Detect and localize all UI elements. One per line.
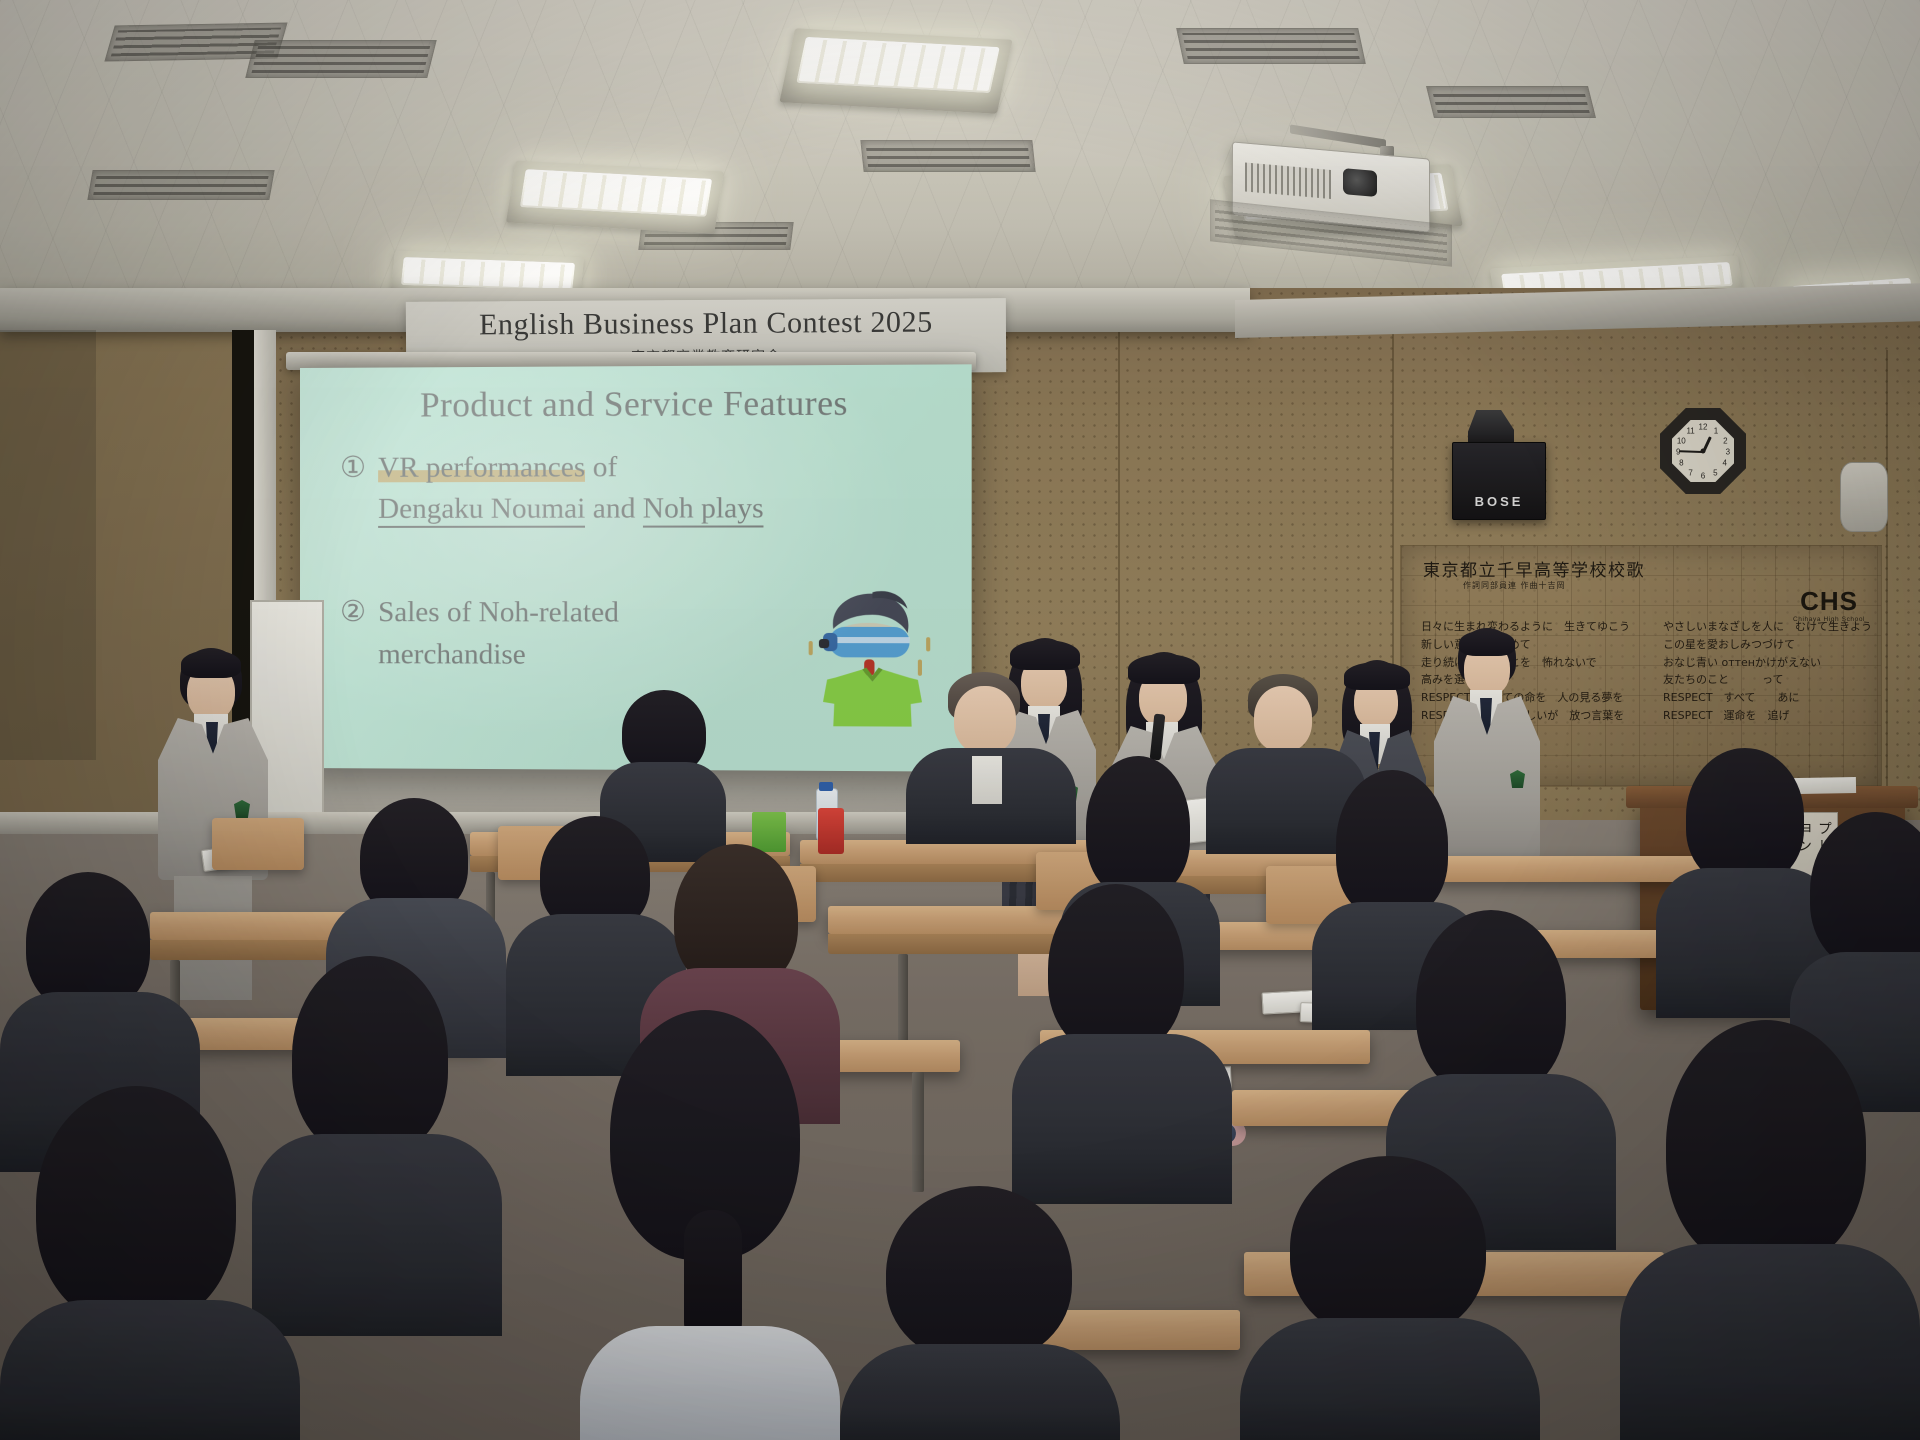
clock-numeral: 3: [1726, 448, 1730, 457]
clock-numeral: 9: [1676, 448, 1680, 457]
shirt: [580, 1326, 840, 1440]
speaker-brand-label: BOSE: [1475, 494, 1524, 509]
desk-leg: [898, 954, 908, 1046]
slide-title: Product and Service Features: [300, 383, 972, 426]
audience-member: [1012, 884, 1232, 1204]
hair: [1336, 770, 1448, 918]
school-song-title: 東京都立千早高等学校校歌: [1423, 556, 1645, 581]
school-song-column-2: やさしいまなざしを人に むけて生きよう この星を愛おしみつづけて おなじ青い о…: [1663, 618, 1872, 725]
jacket: [0, 1300, 300, 1440]
clock-numeral: 7: [1688, 468, 1692, 477]
dress-shirt: [972, 756, 1002, 804]
ceiling-vent-tile: [87, 170, 274, 200]
hair: [36, 1086, 236, 1326]
jacket: [1012, 1034, 1232, 1204]
hair: [1686, 748, 1804, 884]
audience-member: [1620, 1020, 1920, 1440]
bullet-1-line2-mid: and: [585, 492, 642, 524]
wall-clock: 12 1 2 3 4 5 6 7 8 9 10 11: [1660, 408, 1746, 494]
clock-face: 12 1 2 3 4 5 6 7 8 9 10 11: [1672, 420, 1734, 482]
ceiling-vent-tile: [860, 140, 1035, 172]
clock-numeral: 12: [1699, 422, 1708, 431]
projector-lens: [1343, 168, 1377, 197]
hair-fringe: [1459, 630, 1515, 656]
jacket: [1620, 1244, 1920, 1440]
ceiling-vent-tile: [245, 40, 436, 78]
clock-numeral: 6: [1701, 471, 1705, 480]
clock-center: [1701, 449, 1706, 454]
slide-bullet-1: ① VR performances of Dengaku Noumai and …: [340, 446, 868, 530]
school-logo-name: Chihaya High School: [1793, 616, 1865, 623]
audience-member: [1240, 1156, 1540, 1440]
jacket: [840, 1344, 1120, 1440]
event-banner-title: English Business Plan Contest 2025: [479, 307, 933, 340]
bose-speaker: BOSE: [1452, 442, 1546, 520]
desk-leg: [912, 1072, 924, 1192]
slide-body: ① VR performances of Dengaku Noumai and …: [340, 446, 868, 676]
clock-numeral: 1: [1714, 426, 1718, 435]
bullet-number-1: ①: [340, 448, 366, 531]
jacket: [1240, 1318, 1540, 1440]
bullet-text-2: Sales of Noh-related merchandise: [378, 592, 868, 676]
presentation-room-photo: English Business Plan Contest 2025 東京都商業…: [0, 0, 1920, 1440]
hair: [1048, 884, 1184, 1054]
hair: [1666, 1020, 1866, 1270]
school-logo-initials: CHS: [1793, 588, 1865, 614]
head: [954, 686, 1016, 754]
head: [1254, 686, 1312, 752]
hair: [26, 872, 150, 1012]
bullet-text-1: VR performances of Dengaku Noumai and No…: [378, 446, 868, 530]
bullet-1-underline-b: Noh plays: [643, 492, 764, 528]
hair: [292, 956, 448, 1156]
bullet-number-2: ②: [340, 592, 366, 675]
projector-vents: [1245, 162, 1331, 198]
bullet-1-highlight: VR performances: [378, 451, 585, 484]
hair-fringe: [181, 650, 241, 678]
audience-member: [560, 1010, 860, 1440]
audience-member-judge: [906, 672, 1076, 842]
bullet-1-line1-post: of: [585, 451, 617, 483]
bottle-cap: [819, 782, 833, 791]
bullet-2-line2: merchandise: [378, 638, 526, 670]
clock-numeral: 11: [1686, 426, 1694, 435]
clock-numeral: 4: [1722, 459, 1726, 468]
bullet-1-underline-a: Dengaku Noumai: [378, 493, 585, 529]
clock-numeral: 5: [1713, 468, 1717, 477]
chair-back: [212, 818, 304, 870]
hair-fringe: [1010, 640, 1080, 670]
clock-numeral: 10: [1677, 437, 1686, 446]
hair: [1810, 812, 1920, 970]
hair: [1290, 1156, 1486, 1340]
audience-member: [840, 1186, 1120, 1440]
hair: [1416, 910, 1566, 1096]
ceiling-vent-tile: [1176, 28, 1366, 64]
hair-fringe: [1128, 654, 1200, 684]
clock-numeral: 8: [1679, 459, 1683, 468]
wall-speaker-round: [1840, 462, 1888, 532]
hair: [886, 1186, 1072, 1362]
clock-minute-hand: [1679, 450, 1703, 453]
school-song-byline: 作詞同部員連 作曲十吉岡: [1463, 580, 1566, 591]
ceiling-vent-tile: [1426, 86, 1596, 118]
slide-bullet-2: ② Sales of Noh-related merchandise: [340, 592, 868, 676]
bullet-2-line1: Sales of Noh-related: [378, 596, 619, 628]
school-logo: CHS Chihaya High School: [1793, 588, 1865, 623]
clock-numeral: 2: [1723, 437, 1727, 446]
wall-seam: [1886, 350, 1888, 830]
wall-dark-edge: [0, 330, 96, 760]
hair: [1086, 756, 1190, 896]
audience-member: [0, 1086, 300, 1440]
ceiling-light: [401, 257, 575, 291]
